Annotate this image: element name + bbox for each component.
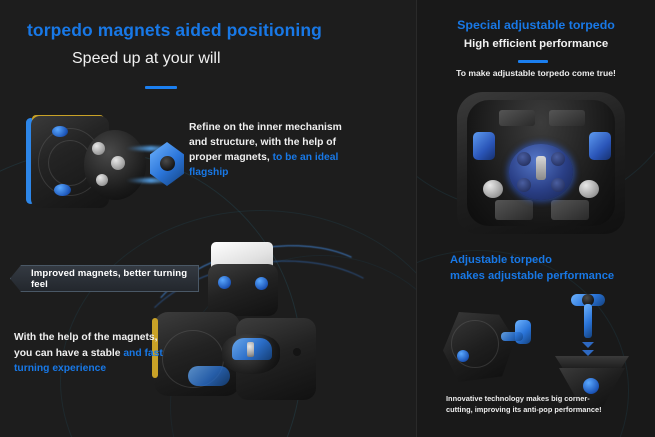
- magnet-disc: [483, 180, 503, 198]
- magnet-disc: [247, 342, 254, 357]
- title-divider: [145, 86, 177, 89]
- torpedo-stem: [501, 332, 523, 341]
- refine-text: Refine on the inner mechanism and struct…: [189, 120, 352, 180]
- install-arrow-icon: [582, 342, 594, 348]
- hub-hole: [551, 178, 565, 192]
- magnet-dot: [255, 277, 268, 290]
- torpedo-part: [188, 366, 230, 386]
- hub-hole: [517, 152, 531, 166]
- main-title-text: torpedo magnets aided positioning: [27, 20, 322, 40]
- adjustable-torpedo-line2: makes adjustable performance: [450, 268, 650, 284]
- right-panel: Special adjustable torpedo High efficien…: [417, 0, 655, 437]
- cube-upper-body: [208, 264, 278, 316]
- install-arrow-icon: [582, 350, 594, 356]
- magnet-disc: [96, 174, 108, 186]
- inner-slot: [549, 110, 585, 126]
- adjustable-torpedo-line1: Adjustable torpedo: [450, 252, 650, 268]
- hub-hole: [517, 178, 531, 192]
- marketing-image: torpedo magnets aided positioning Speed …: [0, 0, 655, 437]
- page-title: torpedo magnets aided positioning: [27, 20, 322, 41]
- magnet-dot: [52, 126, 68, 137]
- inner-slot: [551, 200, 589, 220]
- inner-slot: [495, 200, 533, 220]
- left-panel: torpedo magnets aided positioning Speed …: [0, 0, 417, 437]
- magnet-disc: [579, 180, 599, 198]
- magnets-text: With the help of the magnets, you can ha…: [14, 330, 166, 377]
- corner-piece-exploded-art: [26, 112, 186, 217]
- torpedo-center: [160, 156, 175, 171]
- torpedo-install-art: [431, 292, 646, 402]
- right-panel-subtitle: High efficient performance: [417, 38, 655, 50]
- screw-hole: [293, 348, 301, 356]
- innovative-caption: Innovative technology makes big corner-c…: [446, 394, 606, 415]
- improved-magnets-banner: Improved magnets, better turning feel: [10, 265, 199, 292]
- adjustable-torpedo-heading: Adjustable torpedo makes adjustable perf…: [450, 252, 650, 284]
- right-panel-divider: [518, 60, 548, 63]
- crown-ring: [555, 356, 629, 370]
- cube-interior-art: [451, 88, 631, 238]
- page-subtitle: Speed up at your will: [72, 50, 221, 68]
- torpedo-screw: [473, 132, 495, 160]
- magnet-disc: [92, 142, 105, 155]
- magnet-dot: [54, 184, 71, 196]
- hub-hole: [551, 152, 565, 166]
- magnet-dot: [457, 350, 469, 362]
- banner-label: Improved magnets, better turning feel: [31, 268, 198, 290]
- web-texture: [451, 320, 499, 368]
- right-panel-title: Special adjustable torpedo: [417, 18, 655, 32]
- magnet-dot: [218, 276, 231, 289]
- magnet-disc: [111, 156, 125, 170]
- inner-slot: [499, 110, 535, 126]
- magnet-dot: [583, 378, 599, 394]
- right-panel-caption: To make adjustable torpedo come true!: [417, 68, 655, 78]
- hub-pin: [536, 156, 546, 180]
- torpedo-shaft: [584, 304, 592, 338]
- torpedo-screw: [589, 132, 611, 160]
- right-panel-title-text: Special adjustable torpedo: [457, 18, 615, 32]
